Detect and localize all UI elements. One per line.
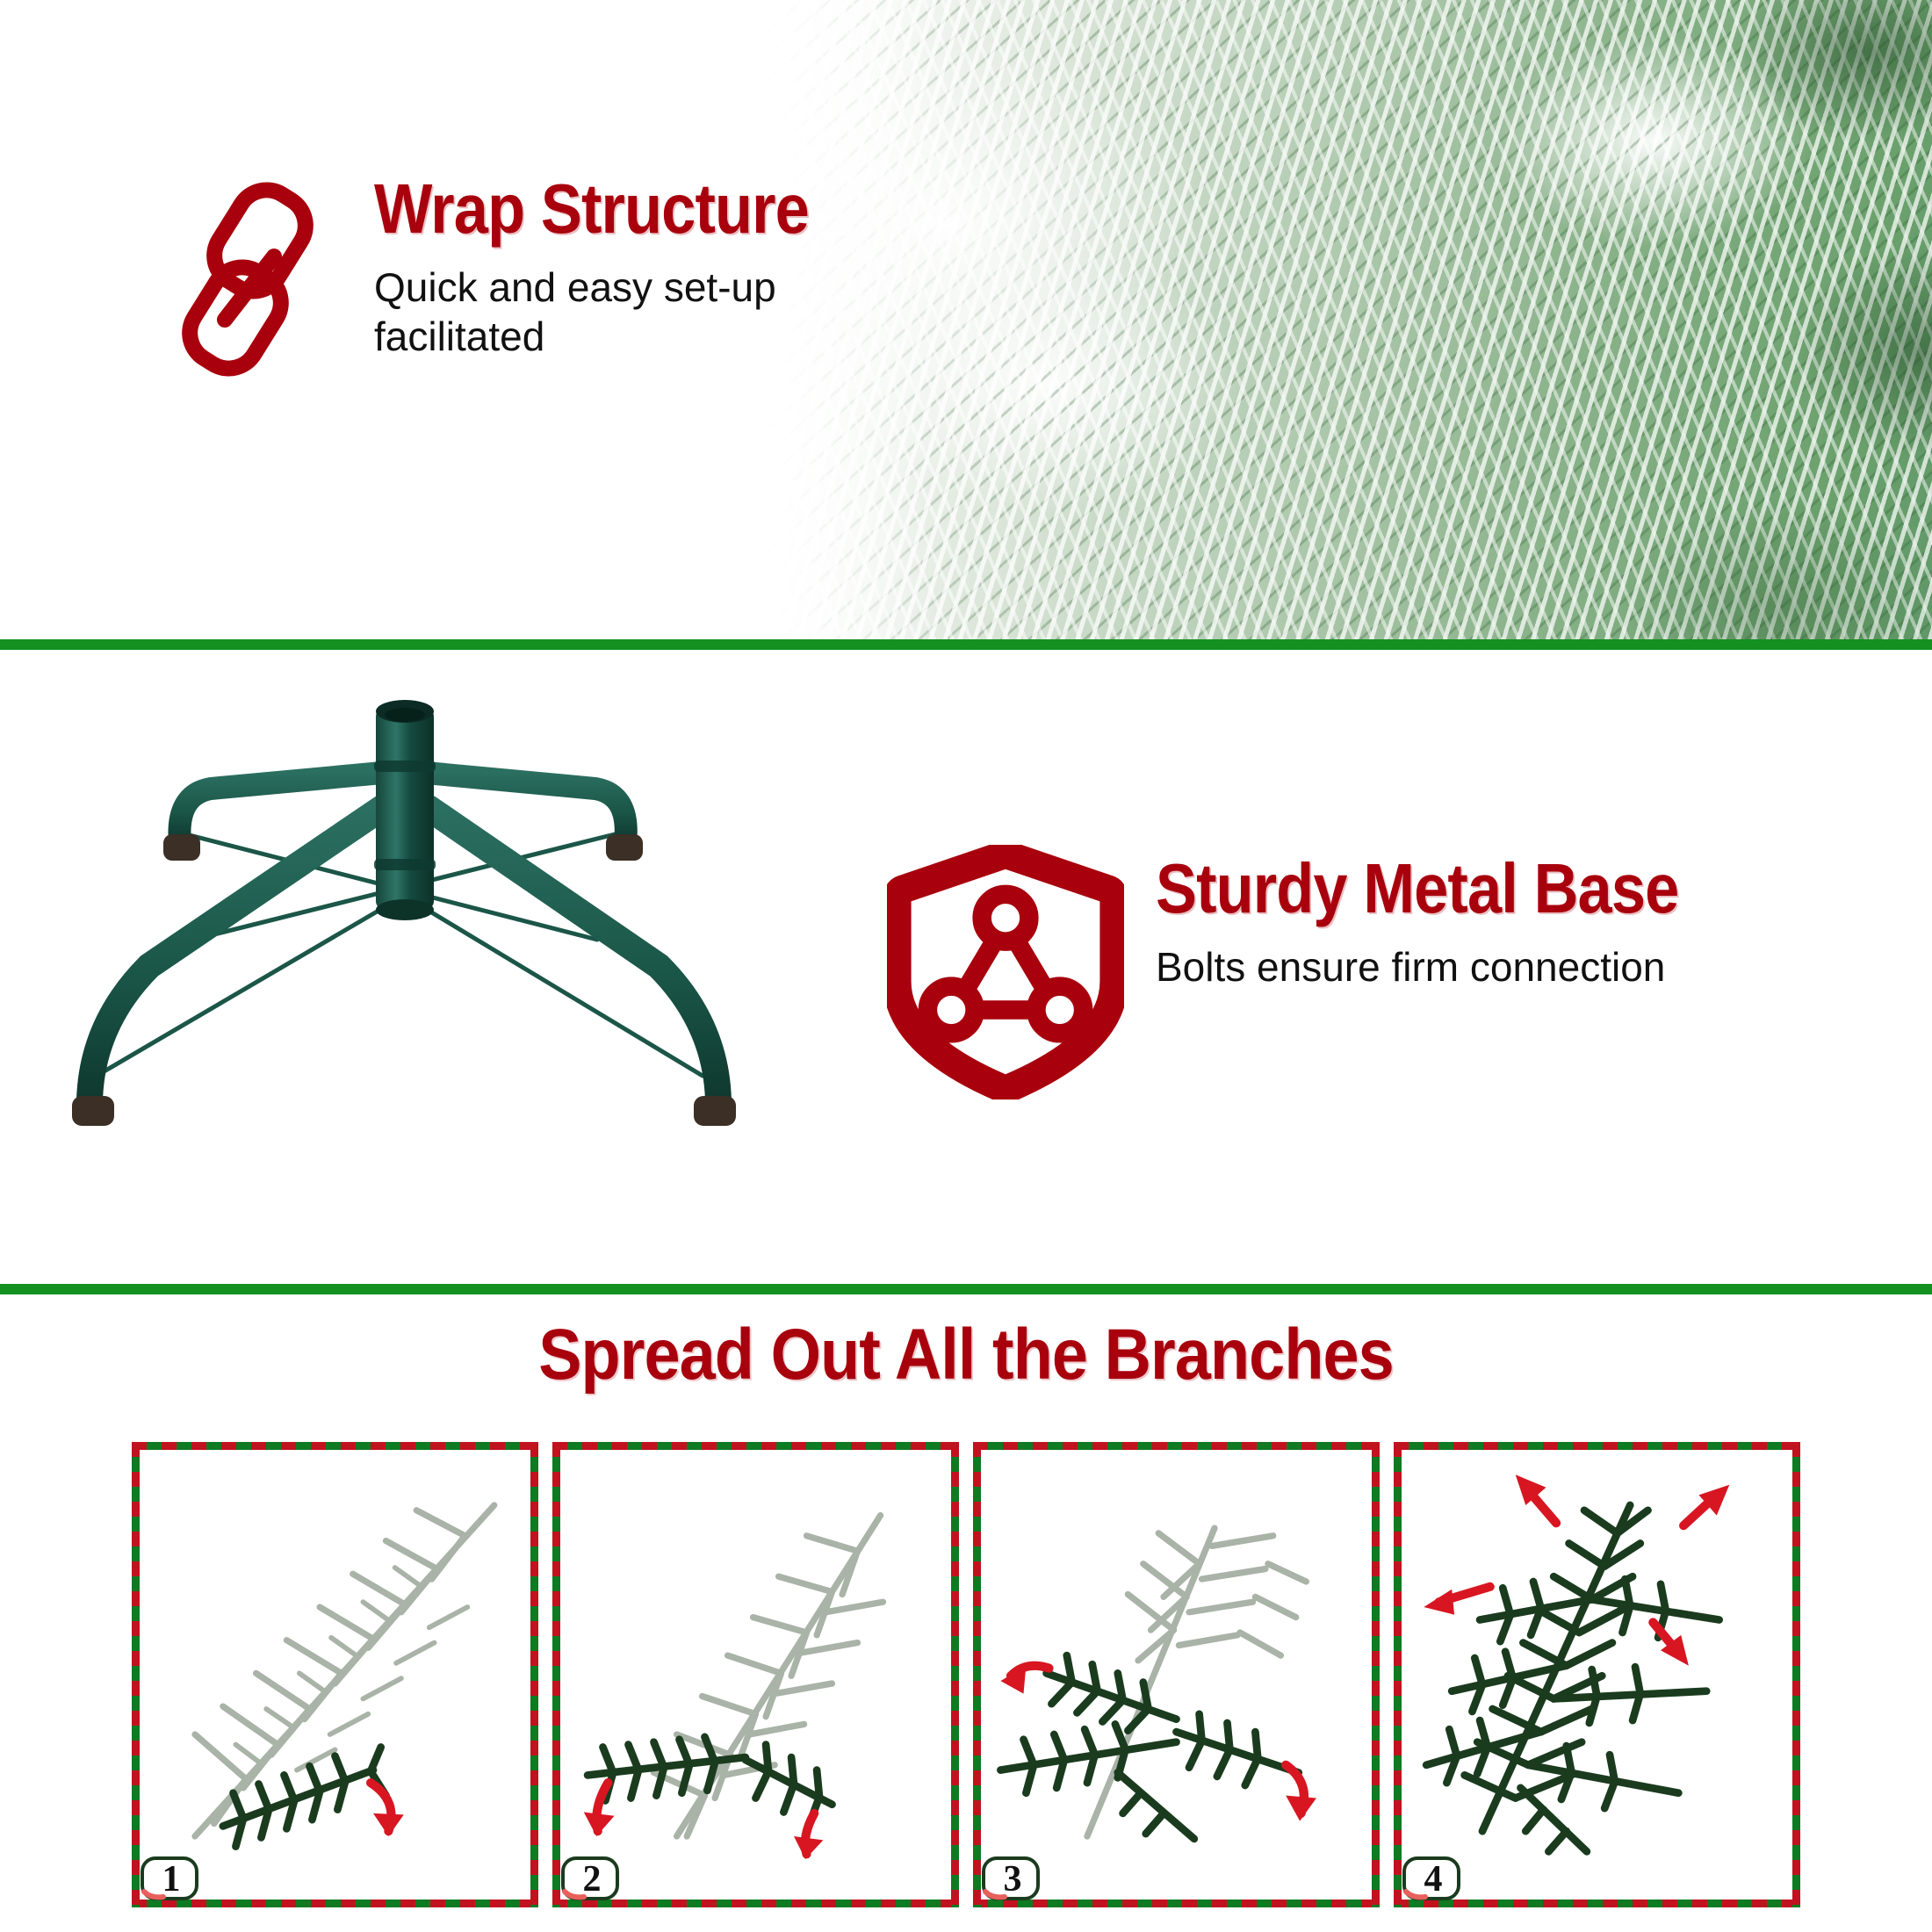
branch-diagram-1 bbox=[144, 1454, 526, 1875]
step-panel-2: 2 bbox=[552, 1442, 959, 1907]
step-panel-4: 4 bbox=[1394, 1442, 1800, 1907]
spread-branches-heading: Spread Out All the Branches bbox=[97, 1319, 1835, 1391]
step-number-badge-2: 2 bbox=[558, 1853, 626, 1906]
divider-top bbox=[0, 639, 1932, 650]
step-number-badge-4: 4 bbox=[1399, 1853, 1467, 1906]
step-number-badge-3: 3 bbox=[978, 1853, 1047, 1906]
section-sturdy-base: Sturdy Metal Base Bolts ensure firm conn… bbox=[0, 650, 1932, 1284]
step-number-1: 1 bbox=[137, 1853, 205, 1906]
feature-sturdy-base: Sturdy Metal Base Bolts ensure firm conn… bbox=[887, 852, 1750, 1099]
wrap-structure-subtitle: Quick and easy set-up facilitated bbox=[374, 263, 936, 361]
branch-diagram-3 bbox=[985, 1454, 1367, 1875]
shield-triangle-nodes-icon bbox=[887, 845, 1124, 1099]
sturdy-base-heading: Sturdy Metal Base bbox=[1156, 855, 1678, 923]
branch-diagram-4 bbox=[1406, 1454, 1788, 1875]
sturdy-base-subtitle: Bolts ensure firm connection bbox=[1156, 942, 1718, 991]
branch-diagram-2 bbox=[565, 1454, 947, 1875]
step-panel-3: 3 bbox=[973, 1442, 1380, 1907]
feature-wrap-structure: Wrap Structure Quick and easy set-up fac… bbox=[172, 172, 936, 381]
step-panel-1: 1 bbox=[132, 1442, 538, 1907]
step-number-3: 3 bbox=[978, 1853, 1047, 1906]
step-number-2: 2 bbox=[558, 1853, 626, 1906]
chain-link-icon bbox=[172, 179, 348, 381]
step-number-4: 4 bbox=[1399, 1853, 1467, 1906]
divider-bottom bbox=[0, 1284, 1932, 1294]
product-infographic: Wrap Structure Quick and easy set-up fac… bbox=[0, 0, 1932, 1932]
step-number-badge-1: 1 bbox=[137, 1853, 205, 1906]
section-wrap-structure: Wrap Structure Quick and easy set-up fac… bbox=[0, 0, 1932, 639]
wrap-structure-text: Wrap Structure Quick and easy set-up fac… bbox=[374, 172, 936, 361]
section-spread-branches: Spread Out All the Branches bbox=[0, 1294, 1932, 1932]
tree-stand-photo bbox=[35, 676, 764, 1168]
wrap-structure-heading: Wrap Structure bbox=[374, 176, 869, 243]
steps-row: 1 bbox=[132, 1442, 1800, 1907]
sturdy-base-text: Sturdy Metal Base Bolts ensure firm conn… bbox=[1156, 852, 1750, 991]
